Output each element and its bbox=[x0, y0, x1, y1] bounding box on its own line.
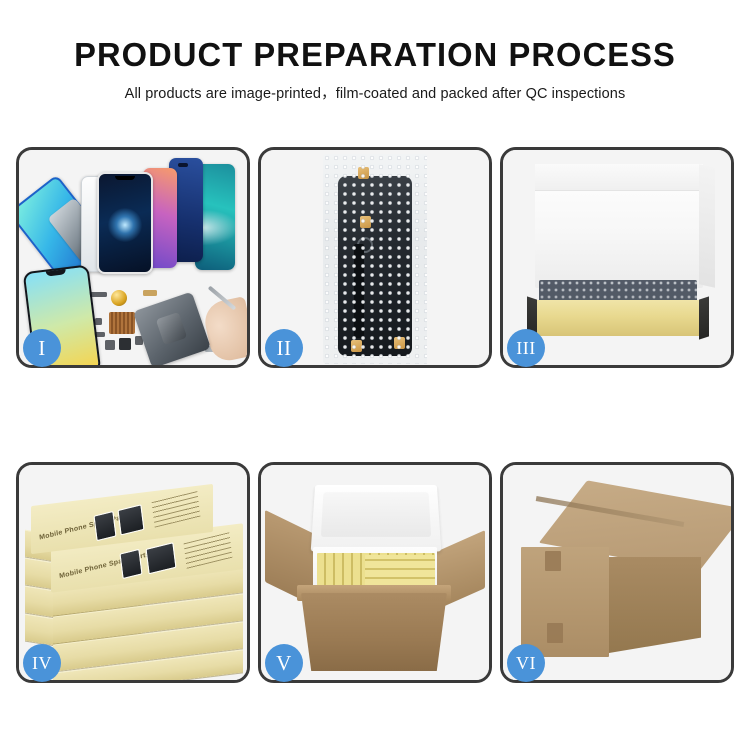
step-badge-1: I bbox=[23, 329, 61, 367]
small-part bbox=[105, 340, 115, 350]
step-badge-4: IV bbox=[23, 644, 61, 682]
notch-icon bbox=[46, 269, 66, 276]
wallpaper-glow bbox=[108, 208, 142, 242]
box-label-spec-lines bbox=[184, 532, 233, 569]
carton-side-face bbox=[609, 557, 701, 653]
foam-lid bbox=[311, 485, 442, 552]
box-label-spec-lines bbox=[152, 491, 201, 528]
process-step-panel-5[interactable]: V bbox=[258, 462, 492, 683]
carton-tape-tab bbox=[547, 623, 563, 643]
page-header: PRODUCT PREPARATION PROCESS All products… bbox=[0, 0, 750, 103]
process-step-panel-3[interactable]: III bbox=[500, 147, 734, 368]
small-part bbox=[119, 338, 131, 350]
process-step-panel-6[interactable]: VI bbox=[500, 462, 734, 683]
yellow-inner-box bbox=[529, 300, 707, 336]
box-label-text: Mobile Phone Spare Parts bbox=[39, 513, 130, 542]
page-title: PRODUCT PREPARATION PROCESS bbox=[4, 38, 747, 73]
foam-lid bbox=[535, 164, 703, 288]
bubble-wrap-bag bbox=[323, 154, 427, 364]
carton-front-face bbox=[521, 547, 609, 657]
notch-icon bbox=[115, 176, 135, 180]
small-part bbox=[95, 318, 102, 325]
phone-black-lightning-wallpaper bbox=[97, 172, 153, 274]
punch-hole-camera-icon bbox=[178, 163, 188, 167]
box-corner-right bbox=[699, 296, 709, 339]
process-step-panel-1[interactable]: I bbox=[16, 147, 250, 368]
step-badge-3: III bbox=[507, 329, 545, 367]
carton-tape-tab bbox=[545, 551, 561, 571]
box-stack: Mobile Phone Spare Parts Mobile Phone Sp… bbox=[25, 481, 243, 680]
box-label-phone-icon bbox=[93, 511, 116, 541]
carton-body bbox=[301, 593, 447, 671]
process-step-panel-4[interactable]: Mobile Phone Spare Parts Mobile Phone Sp… bbox=[16, 462, 250, 683]
box-label-phone-icon bbox=[118, 504, 145, 535]
vibration-motor-part bbox=[111, 290, 127, 306]
hand bbox=[201, 296, 247, 364]
process-step-grid: I II bbox=[16, 147, 734, 683]
step-badge-2: II bbox=[265, 329, 303, 367]
box-label-phone-icon bbox=[146, 542, 177, 574]
step-badge-6: VI bbox=[507, 644, 545, 682]
small-part bbox=[143, 290, 157, 296]
box-label-phone-icon bbox=[119, 549, 142, 579]
page-subtitle: All products are image-printed，film-coat… bbox=[0, 82, 750, 103]
step-badge-5: V bbox=[265, 644, 303, 682]
phone-back-cover bbox=[133, 292, 211, 365]
process-step-panel-2[interactable]: II bbox=[258, 147, 492, 368]
circuit-board-part bbox=[109, 312, 135, 334]
bubble-texture bbox=[323, 154, 427, 364]
